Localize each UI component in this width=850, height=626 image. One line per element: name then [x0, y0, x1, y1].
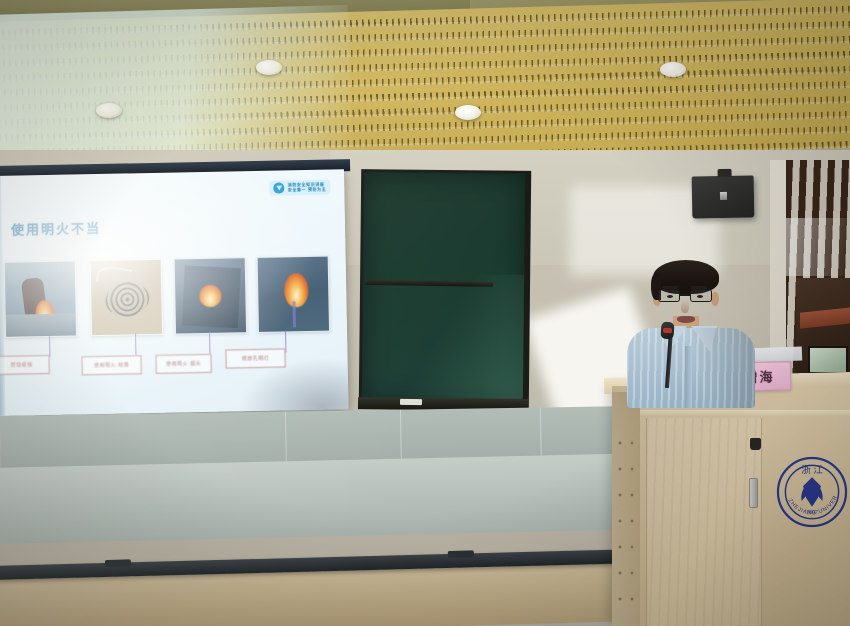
downlight-1 — [256, 60, 282, 75]
thumb-candle — [257, 256, 330, 333]
ceiling-row-lines — [0, 0, 850, 172]
lectern-vent-holes — [614, 430, 638, 616]
nose — [681, 300, 689, 313]
caption-cigarette: 使用明火·烟头 — [155, 354, 211, 374]
slide-thumbnail-row — [2, 255, 343, 342]
thumb-cigarette — [174, 257, 247, 334]
speaker-mount-bracket — [718, 169, 732, 177]
green-chalkboard — [362, 172, 525, 405]
lectern-door-handle[interactable] — [749, 478, 758, 508]
flame-shape-2 — [199, 285, 221, 307]
slide-title: 使用明火不当 — [11, 218, 101, 239]
eye-left — [667, 295, 673, 298]
slat-highlight — [786, 218, 850, 276]
downlight-2 — [96, 103, 122, 118]
thumb1-ground — [6, 313, 77, 337]
screen-corner-shadow — [238, 357, 349, 416]
chalk-piece — [400, 399, 422, 405]
presenter — [625, 258, 755, 398]
perforated-acoustic-ceiling — [0, 0, 850, 172]
eye-right — [697, 295, 703, 298]
downlight-3 — [455, 105, 481, 120]
speaker-grille-badge — [720, 192, 727, 200]
thumb-burning-paper — [4, 260, 77, 337]
shirt-shading — [627, 328, 755, 408]
coil-smoke-trail — [96, 264, 133, 288]
slide-logo-line2: 安全第一 预防为主 — [288, 188, 327, 193]
flame-trail — [292, 301, 295, 327]
wood-grain-texture — [647, 418, 761, 626]
microphone-indicator-ring — [663, 328, 672, 334]
rail-clip-2 — [448, 550, 474, 558]
recessed-display-panel — [808, 346, 848, 374]
caption-mosquito-coil: 使用明火·蚊香 — [81, 355, 141, 375]
zhejiang-university-emblem: 浙 江 1897 ZHEJIANG UNIVERSITY — [775, 455, 849, 529]
flame-shape-3 — [284, 273, 309, 307]
projector-screen: 消防安全知识讲座 安全第一 预防为主 使用明火不当 — [0, 169, 349, 416]
mouth — [677, 316, 695, 323]
lectern-cabinet-door[interactable] — [646, 418, 762, 626]
shield-badge-icon — [274, 182, 285, 193]
glasses-bridge — [680, 294, 690, 296]
downlight-4 — [660, 62, 686, 77]
slide-logo: 消防安全知识讲座 安全第一 预防为主 — [270, 180, 331, 196]
chalkboard-glare — [383, 273, 526, 404]
caption-burning-paper: 焚烧纸钱 — [0, 355, 50, 375]
lectern-trim-rail — [640, 410, 850, 417]
svg-text:浙 江: 浙 江 — [801, 464, 823, 476]
rail-clip-1 — [105, 559, 131, 567]
lecture-hall-photo: 消防安全知识讲座 安全第一 预防为主 使用明火不当 — [0, 0, 850, 626]
thumb-mosquito-coil — [90, 259, 163, 336]
wall-mounted-loudspeaker — [692, 175, 755, 218]
lectern-lock[interactable] — [750, 438, 761, 450]
